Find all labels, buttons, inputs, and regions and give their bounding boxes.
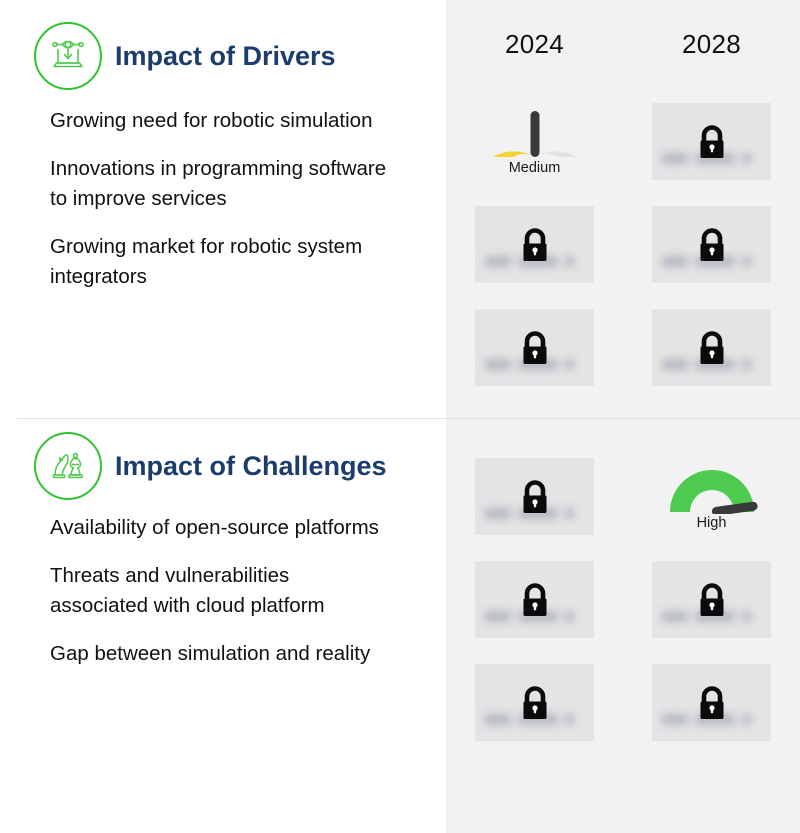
lock-icon <box>695 122 729 162</box>
section-impact-of-drivers: Impact of Drivers Growing need for robot… <box>0 0 800 418</box>
metric-cell-challenges-r3-2024[interactable] <box>455 651 615 754</box>
factor-item: Threats and vulnerabilities associated w… <box>50 561 390 621</box>
metric-cell-drivers-r2-2028[interactable] <box>632 193 792 296</box>
lock-icon <box>518 580 552 620</box>
gauge-level-label: High <box>697 516 727 531</box>
metric-cell-challenges-r2-2028[interactable] <box>632 548 792 651</box>
impact-matrix-board: 2024 2028 <box>0 0 800 833</box>
locked-cell[interactable] <box>475 561 594 638</box>
drivers-metrics-column: Medium <box>446 0 800 418</box>
challenges-metric-grid: High <box>446 445 800 754</box>
drivers-title: Impact of Drivers <box>115 43 336 70</box>
locked-cell[interactable] <box>652 309 771 386</box>
metric-cell-challenges-r1-2028: High <box>632 445 792 548</box>
metric-cell-drivers-r1-2028[interactable] <box>632 90 792 193</box>
locked-cell[interactable] <box>475 664 594 741</box>
locked-cell[interactable] <box>652 206 771 283</box>
lock-icon <box>695 328 729 368</box>
factor-item: Growing market for robotic system integr… <box>50 232 390 292</box>
locked-cell[interactable] <box>475 309 594 386</box>
lock-icon <box>518 477 552 517</box>
factor-item: Growing need for robotic simulation <box>50 106 390 136</box>
metric-cell-challenges-r1-2024[interactable] <box>455 445 615 548</box>
metric-cell-drivers-r1-2024: Medium <box>455 90 615 193</box>
drivers-left-column: Impact of Drivers Growing need for robot… <box>0 0 446 418</box>
metric-cell-drivers-r2-2024[interactable] <box>455 193 615 296</box>
factor-item: Gap between simulation and reality <box>50 639 390 669</box>
factor-item: Innovations in programming software to i… <box>50 154 390 214</box>
drivers-heading: Impact of Drivers <box>34 22 336 90</box>
locked-cell[interactable] <box>475 206 594 283</box>
gauge-medium: Medium <box>480 103 590 181</box>
drivers-metric-grid: Medium <box>446 90 800 399</box>
metric-cell-challenges-r3-2028[interactable] <box>632 651 792 754</box>
lock-icon <box>518 225 552 265</box>
drivers-factor-list: Growing need for robotic simulation Inno… <box>50 106 422 292</box>
metric-cell-drivers-r3-2024[interactable] <box>455 296 615 399</box>
metric-cell-drivers-r3-2028[interactable] <box>632 296 792 399</box>
locked-cell[interactable] <box>652 664 771 741</box>
challenges-title: Impact of Challenges <box>115 453 387 480</box>
factor-item: Availability of open-source platforms <box>50 513 390 543</box>
chess-pieces-icon <box>34 432 102 500</box>
lock-icon <box>518 683 552 723</box>
lock-icon <box>695 580 729 620</box>
lock-icon <box>695 683 729 723</box>
challenges-factor-list: Availability of open-source platforms Th… <box>50 513 422 669</box>
challenges-left-column: Impact of Challenges Availability of ope… <box>0 419 446 833</box>
robotic-arm-laptop-icon <box>34 22 102 90</box>
challenges-heading: Impact of Challenges <box>34 432 387 500</box>
locked-cell[interactable] <box>652 561 771 638</box>
lock-icon <box>518 328 552 368</box>
section-impact-of-challenges: Impact of Challenges Availability of ope… <box>0 419 800 833</box>
challenges-metrics-column: High <box>446 419 800 833</box>
gauge-high: High <box>657 458 767 536</box>
metric-cell-challenges-r2-2024[interactable] <box>455 548 615 651</box>
locked-cell[interactable] <box>652 103 771 180</box>
lock-icon <box>695 225 729 265</box>
locked-cell[interactable] <box>475 458 594 535</box>
gauge-level-label: Medium <box>509 161 561 176</box>
